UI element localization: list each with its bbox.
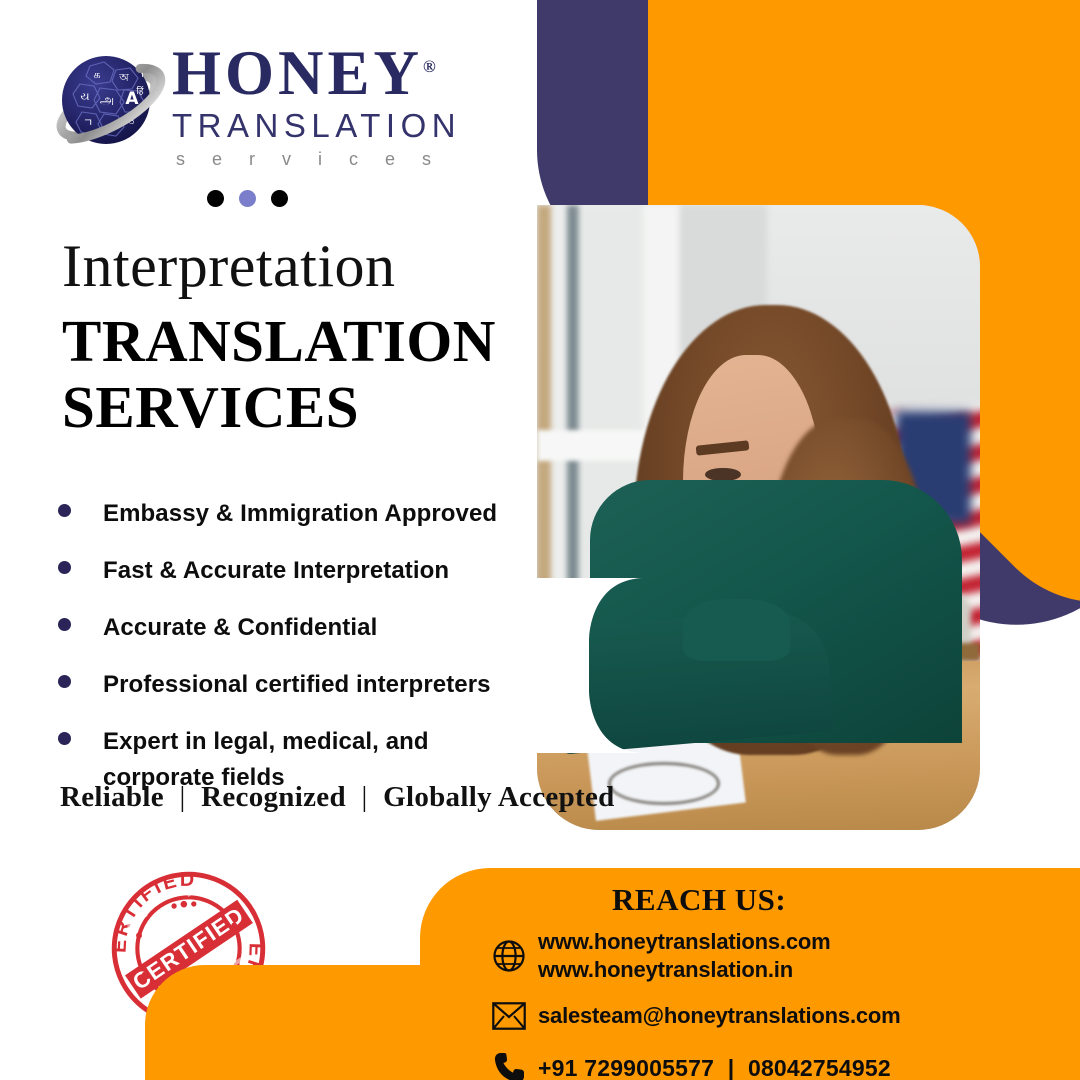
hero-photo xyxy=(537,205,980,830)
contact-row-phone[interactable]: +91 7299005577 | 08042754952 xyxy=(492,1048,1072,1080)
dot-2-icon xyxy=(239,190,256,207)
tagline-part-2: Recognized xyxy=(201,781,346,813)
phone-icon xyxy=(492,1048,538,1080)
headline-block: Interpretation TRANSLATION SERVICES xyxy=(62,236,532,440)
tagline-part-1: Reliable xyxy=(60,781,164,813)
website-1[interactable]: www.honeytranslations.com xyxy=(538,929,830,954)
headline-script-line: Interpretation xyxy=(62,236,532,296)
hero-photo-image xyxy=(537,205,980,830)
list-item: Embassy & Immigration Approved xyxy=(58,496,538,532)
headline-bold-line-2: SERVICES xyxy=(62,374,532,440)
tagline-separator-2: | xyxy=(353,781,375,813)
svg-text:க: க xyxy=(93,68,100,81)
logo-honey-text: HONEY® xyxy=(172,42,461,105)
contact-list: www.honeytranslations.com www.honeytrans… xyxy=(492,928,1072,1080)
tagline-separator-1: | xyxy=(171,781,193,813)
headline-bold-line-1: TRANSLATION xyxy=(62,308,532,374)
website-values[interactable]: www.honeytranslations.com www.honeytrans… xyxy=(538,928,830,984)
svg-text:অ: অ xyxy=(118,71,129,84)
list-item-label: Embassy & Immigration Approved xyxy=(103,496,497,532)
tagline-part-3: Globally Accepted xyxy=(383,781,614,813)
list-item-label: Professional certified interpreters xyxy=(103,667,491,703)
svg-text:ㄱ: ㄱ xyxy=(83,116,93,129)
bullet-dot-icon xyxy=(58,504,71,517)
contact-row-website[interactable]: www.honeytranslations.com www.honeytrans… xyxy=(492,928,1072,984)
bullet-dot-icon xyxy=(58,561,71,574)
bullet-dot-icon xyxy=(58,732,71,745)
dot-3-icon xyxy=(271,190,288,207)
svg-text:அ: அ xyxy=(100,93,114,108)
email-value[interactable]: salesteam@honeytranslations.com xyxy=(538,1002,901,1030)
feature-list: Embassy & Immigration Approved Fast & Ac… xyxy=(58,496,538,817)
list-item-label: Fast & Accurate Interpretation xyxy=(103,553,449,589)
contact-row-email[interactable]: salesteam@honeytranslations.com xyxy=(492,996,1072,1036)
logo-honey-label: HONEY xyxy=(172,38,423,108)
globe-icon: க অ । ય அ A हिं ㄱ எ ও xyxy=(54,44,166,162)
bullet-dot-icon xyxy=(58,675,71,688)
brand-logo[interactable]: க অ । ય அ A हिं ㄱ எ ও HONEY® TRANSLATION… xyxy=(54,44,414,174)
list-item-label: Accurate & Confidential xyxy=(103,610,377,646)
svg-text:ય: ય xyxy=(80,90,89,103)
phone-1[interactable]: +91 7299005577 xyxy=(538,1055,714,1080)
list-item: Accurate & Confidential xyxy=(58,610,538,646)
list-item: Professional certified interpreters xyxy=(58,667,538,703)
svg-text:हिं: हिं xyxy=(136,85,143,97)
tagline: Reliable | Recognized | Globally Accepte… xyxy=(60,781,615,814)
phone-separator: | xyxy=(721,1055,742,1080)
reach-us-title: REACH US: xyxy=(612,882,786,918)
website-2[interactable]: www.honeytranslation.in xyxy=(538,957,793,982)
dot-1-icon xyxy=(207,190,224,207)
globe-icon xyxy=(492,936,538,976)
logo-services-text: s e r v i c e s xyxy=(172,150,461,168)
bullet-dot-icon xyxy=(58,618,71,631)
list-item: Fast & Accurate Interpretation xyxy=(58,553,538,589)
envelope-icon xyxy=(492,996,538,1036)
phone-values[interactable]: +91 7299005577 | 08042754952 xyxy=(538,1054,891,1080)
registered-mark-icon: ® xyxy=(423,57,436,76)
logo-wordmark: HONEY® TRANSLATION s e r v i c e s xyxy=(172,42,461,168)
logo-translation-text: TRANSLATION xyxy=(172,109,461,142)
poster-canvas: க অ । ય அ A हिं ㄱ எ ও HONEY® TRANSLATION… xyxy=(0,0,1080,1080)
phone-2[interactable]: 08042754952 xyxy=(748,1055,891,1080)
decor-dots xyxy=(207,190,288,207)
